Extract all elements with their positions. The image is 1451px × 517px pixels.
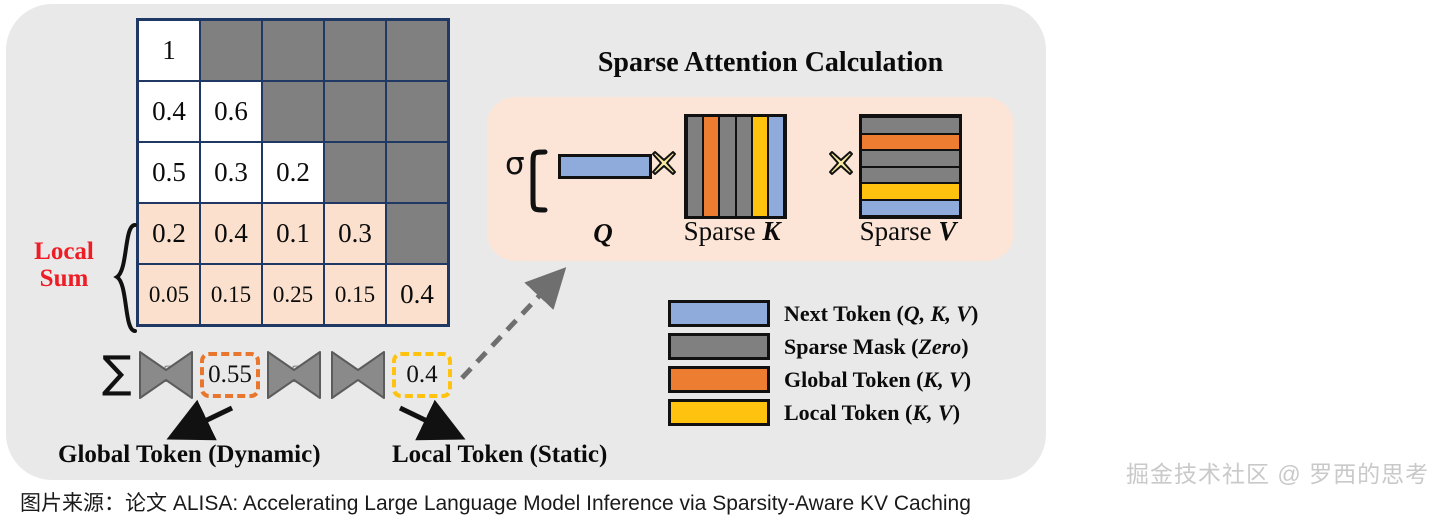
- matrix-row: 1: [138, 20, 449, 82]
- sparse-value-row-gray: [862, 151, 959, 166]
- matrix-cell-masked: [386, 81, 449, 142]
- matrix-row: 0.20.40.10.3: [138, 203, 449, 264]
- matrix-cell: 0.6: [200, 81, 262, 142]
- sparse-key-column-gray: [737, 117, 751, 216]
- query-label: Q: [558, 218, 648, 249]
- legend-swatch-orange: [668, 366, 770, 393]
- sparse-key-column-blue: [769, 117, 783, 216]
- local-sum-line-1: Local: [16, 238, 112, 265]
- column-sum-selected-global: 0.55: [200, 352, 260, 398]
- column-sum-crossed: 0.45: [328, 352, 388, 398]
- matrix-cell-masked: [386, 20, 449, 82]
- multiply-icon-1: [651, 150, 677, 176]
- sparse-key-column-gray: [720, 117, 734, 216]
- matrix-cell: 0.05: [138, 264, 201, 326]
- legend-item: Next Token (Q, K, V): [668, 299, 1018, 328]
- sparse-value-row-blue: [862, 201, 959, 216]
- callout-local-token: Local Token (Static): [392, 441, 607, 469]
- column-sum-selected-local: 0.4: [392, 352, 452, 398]
- legend-swatch-yellow: [668, 399, 770, 426]
- legend-label: Next Token (Q, K, V): [784, 301, 978, 327]
- local-sum-line-2: Sum: [16, 265, 112, 292]
- sparse-value-label-symbol: V: [938, 216, 956, 246]
- pruned-x-icon: [262, 348, 326, 402]
- callout-global-token: Global Token (Dynamic): [58, 441, 321, 469]
- matrix-row: 0.50.30.2: [138, 142, 449, 203]
- matrix-cell: 0.3: [324, 203, 386, 264]
- matrix-cell: 0.15: [324, 264, 386, 326]
- multiply-icon-2: [828, 150, 854, 176]
- sparse-key-column-yellow: [753, 117, 767, 216]
- local-sum-label: Local Sum: [16, 238, 112, 292]
- legend-swatch-blue: [668, 300, 770, 327]
- legend-label: Local Token (K, V): [784, 400, 960, 426]
- legend: Next Token (Q, K, V)Sparse Mask (Zero)Gl…: [668, 299, 1018, 431]
- legend-item: Global Token (K, V): [668, 365, 1018, 394]
- sparse-value-row-orange: [862, 135, 959, 150]
- sparse-key-matrix: [684, 114, 787, 219]
- matrix-cell-masked: [324, 81, 386, 142]
- sparse-value-row-yellow: [862, 184, 959, 199]
- legend-label: Global Token (K, V): [784, 367, 971, 393]
- pruned-x-icon: [134, 348, 198, 402]
- matrix-cell-masked: [262, 81, 324, 142]
- matrix-cell: 0.3: [200, 142, 262, 203]
- sparse-key-label-prefix: Sparse: [684, 216, 763, 246]
- sparse-key-column-gray: [688, 117, 702, 216]
- sparse-key-label: Sparse K: [662, 216, 802, 247]
- sparse-value-label: Sparse V: [838, 216, 978, 247]
- sparse-value-label-prefix: Sparse: [860, 216, 939, 246]
- figure-root: 10.40.60.50.30.20.20.40.10.30.050.150.25…: [0, 0, 1451, 517]
- legend-item: Local Token (K, V): [668, 398, 1018, 427]
- calculation-title: Sparse Attention Calculation: [583, 47, 958, 79]
- sparse-key-label-symbol: K: [762, 216, 780, 246]
- watermark: 掘金技术社区 @ 罗西的思考: [1126, 455, 1429, 489]
- matrix-cell: 0.2: [138, 203, 201, 264]
- matrix-cell-masked: [262, 20, 324, 82]
- legend-label: Sparse Mask (Zero): [784, 334, 969, 360]
- matrix-cell: 0.4: [138, 81, 201, 142]
- matrix-cell: 0.4: [200, 203, 262, 264]
- matrix-cell-masked: [324, 142, 386, 203]
- source-caption: 图片来源：论文 ALISA: Accelerating Large Langua…: [20, 487, 971, 517]
- matrix-cell-masked: [200, 20, 262, 82]
- sparse-value-matrix: [859, 114, 962, 219]
- matrix-cell: 0.5: [138, 142, 201, 203]
- matrix-cell: 0.2: [262, 142, 324, 203]
- matrix-row: 0.40.6: [138, 81, 449, 142]
- matrix-cell: 0.25: [262, 264, 324, 326]
- column-sum-row: 0.250.550.350.450.4: [136, 352, 458, 400]
- matrix-row: 0.050.150.250.150.4: [138, 264, 449, 326]
- matrix-cell-masked: [386, 142, 449, 203]
- matrix-cell: 0.15: [200, 264, 262, 326]
- sparse-value-row-gray: [862, 168, 959, 183]
- legend-item: Sparse Mask (Zero): [668, 332, 1018, 361]
- sparse-key-column-orange: [704, 117, 718, 216]
- column-sum-crossed: 0.35: [264, 352, 324, 398]
- local-sum-brace: [113, 222, 139, 334]
- matrix-cell-masked: [324, 20, 386, 82]
- pruned-x-icon: [326, 348, 390, 402]
- legend-swatch-gray: [668, 333, 770, 360]
- matrix-cell: 0.1: [262, 203, 324, 264]
- attention-score-matrix: 10.40.60.50.30.20.20.40.10.30.050.150.25…: [136, 18, 450, 327]
- column-sum-crossed: 0.25: [136, 352, 196, 398]
- query-vector-bar: [558, 154, 652, 179]
- dashed-connector-arrow: [440, 250, 580, 390]
- sparse-value-row-gray: [862, 118, 959, 133]
- matrix-cell: 1: [138, 20, 201, 82]
